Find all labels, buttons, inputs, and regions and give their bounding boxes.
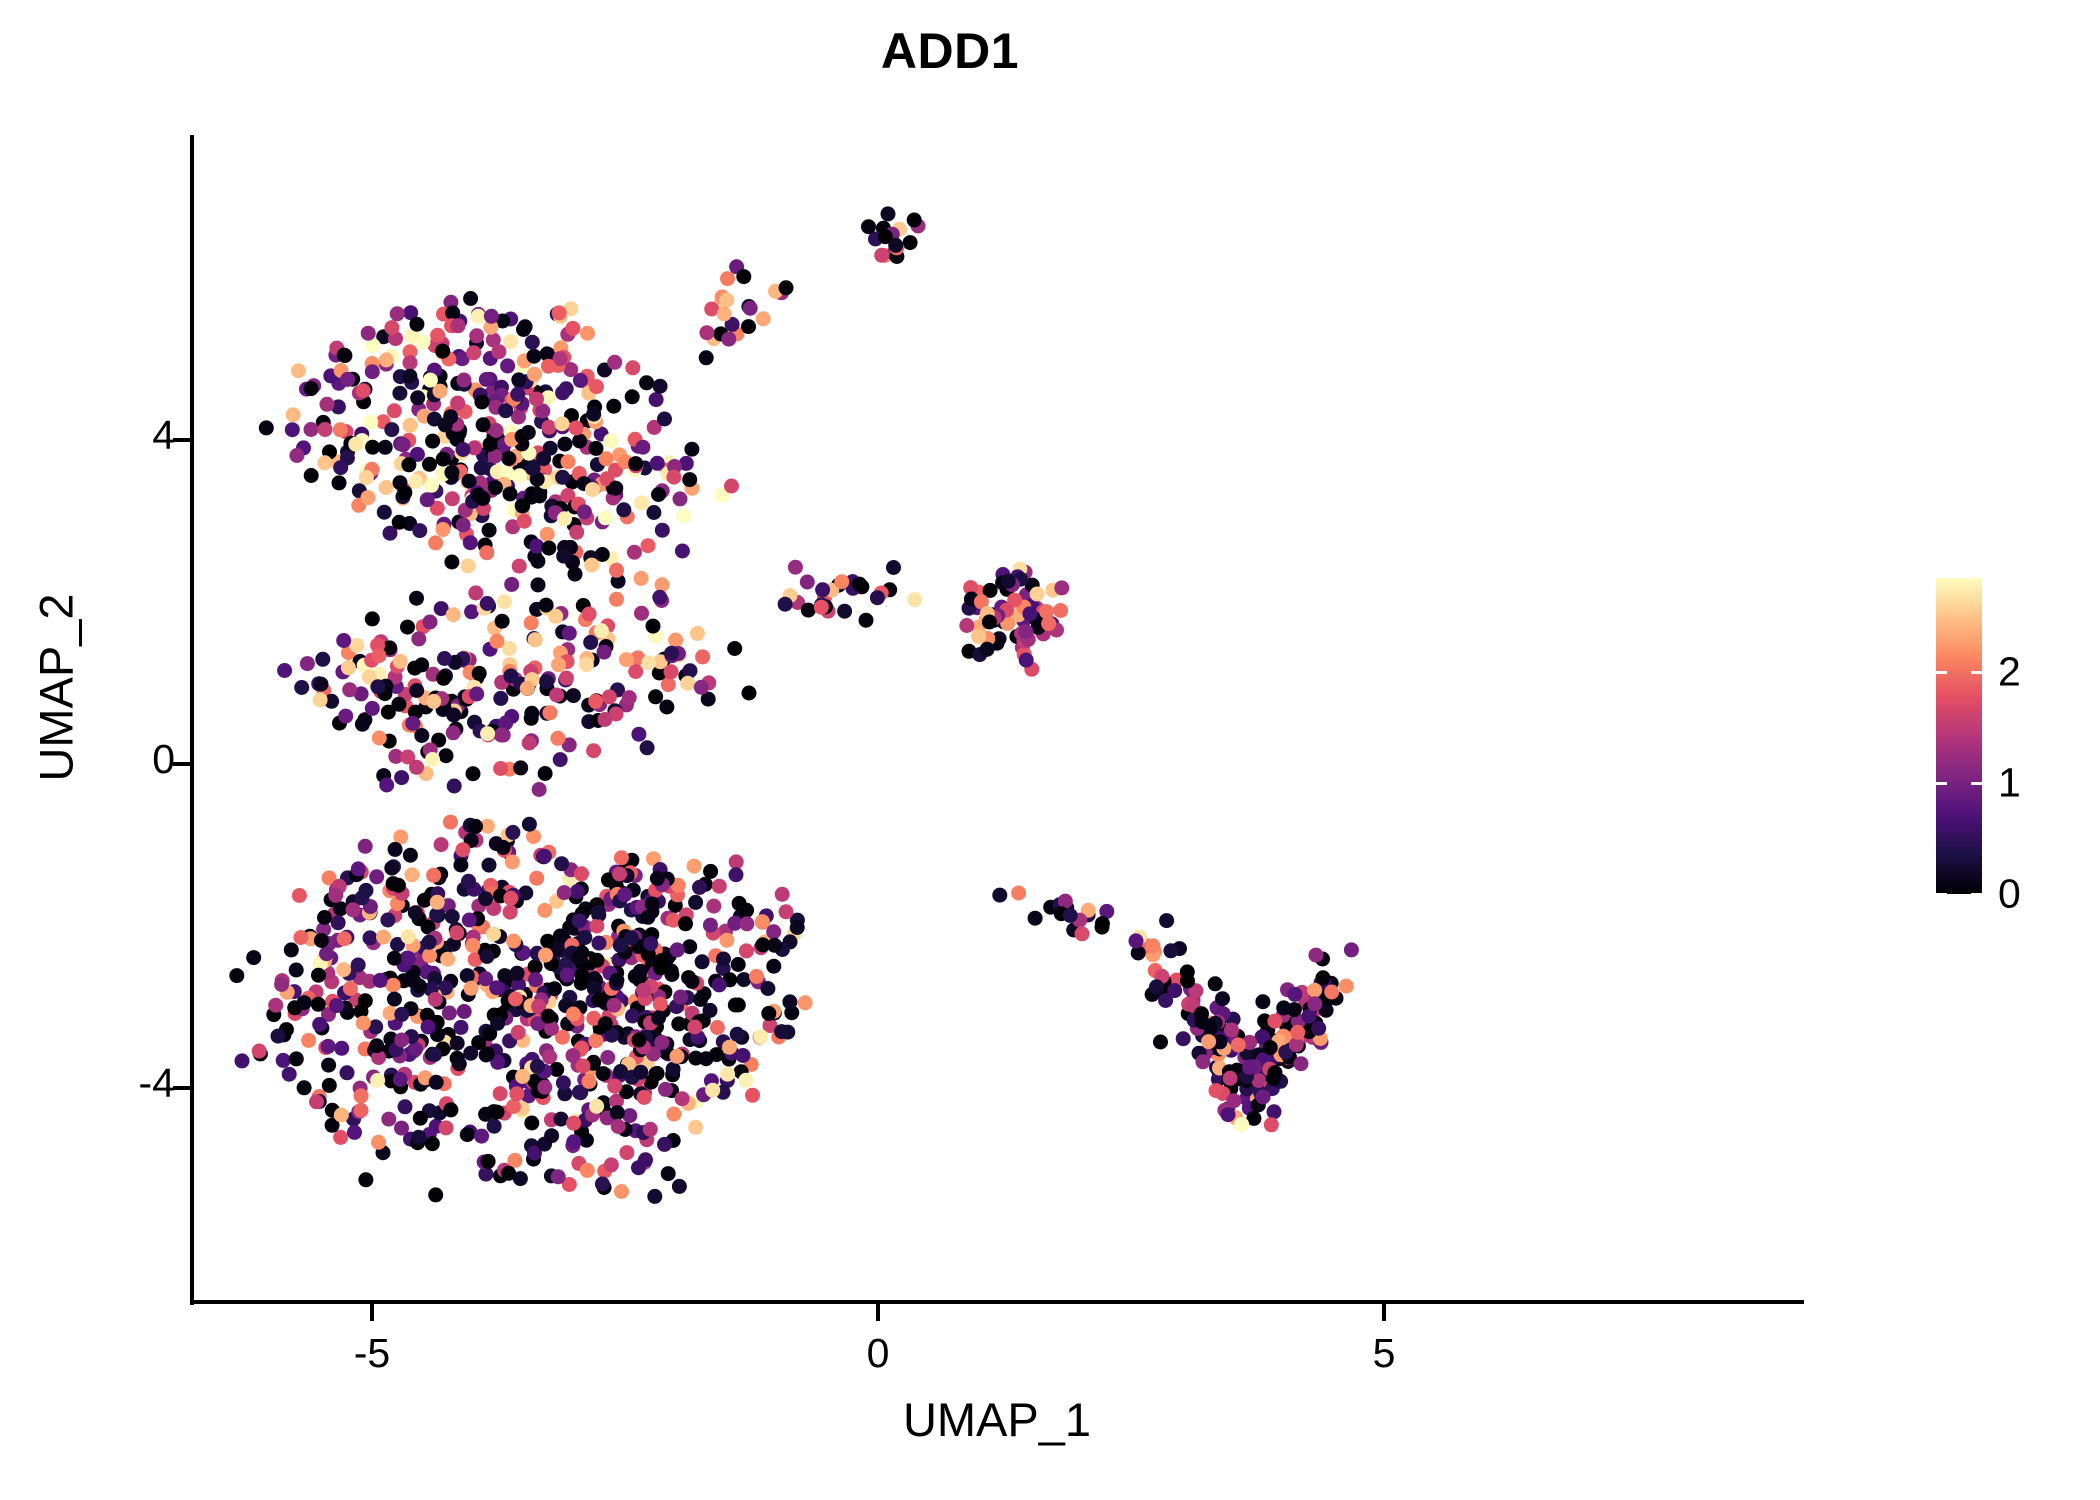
scatter-point <box>606 399 621 414</box>
scatter-point <box>317 910 332 925</box>
scatter-point <box>480 1046 495 1061</box>
scatter-point <box>607 1079 622 1094</box>
scatter-point <box>1307 983 1322 998</box>
scatter-point <box>635 440 650 455</box>
colorbar-legend: 012 <box>1936 578 1982 894</box>
y-tick-label-4: 4 <box>152 412 175 459</box>
scatter-point <box>361 326 376 341</box>
scatter-point <box>1231 1037 1246 1052</box>
scatter-point <box>640 910 655 925</box>
scatter-point <box>229 968 244 983</box>
scatter-point <box>650 1066 665 1081</box>
scatter-point <box>380 913 395 928</box>
scatter-point <box>720 1067 735 1082</box>
scatter-point <box>657 412 672 427</box>
scatter-point <box>510 966 525 981</box>
scatter-point <box>617 887 632 902</box>
scatter-point <box>461 559 476 574</box>
scatter-point <box>439 1120 454 1135</box>
scatter-point <box>582 1074 597 1089</box>
scatter-point <box>651 1010 666 1025</box>
scatter-point <box>309 1094 324 1109</box>
scatter-point <box>354 1103 369 1118</box>
x-tick-label-neg5: -5 <box>312 1330 432 1377</box>
scatter-point <box>489 423 504 438</box>
scatter-point <box>408 474 423 489</box>
scatter-point <box>646 619 661 634</box>
scatter-point <box>246 950 261 965</box>
scatter-point <box>548 609 563 624</box>
scatter-point <box>633 1065 648 1080</box>
scatter-point <box>365 440 380 455</box>
colorbar-tick-2 <box>1971 671 1982 674</box>
scatter-point <box>719 933 734 948</box>
scatter-point <box>409 683 424 698</box>
colorbar-label-0: 0 <box>1998 871 2021 918</box>
scatter-point <box>509 1086 524 1101</box>
scatter-point <box>591 905 606 920</box>
scatter-point <box>522 736 537 751</box>
scatter-point <box>320 397 335 412</box>
scatter-point <box>736 972 751 987</box>
scatter-point <box>1294 1056 1309 1071</box>
scatter-point <box>444 465 459 480</box>
scatter-point <box>980 642 995 657</box>
scatter-point <box>423 373 438 388</box>
scatter-point <box>631 727 646 742</box>
scatter-point <box>815 582 830 597</box>
scatter-point <box>373 973 388 988</box>
scatter-point <box>361 490 376 505</box>
scatter-point <box>401 951 416 966</box>
scatter-point <box>540 527 555 542</box>
scatter-point <box>652 590 667 605</box>
scatter-point <box>653 997 668 1012</box>
scatter-point <box>682 472 697 487</box>
scatter-point <box>688 1051 703 1066</box>
scatter-point <box>631 1160 646 1175</box>
scatter-point <box>235 1053 250 1068</box>
scatter-point <box>636 983 651 998</box>
scatter-point <box>627 545 642 560</box>
scatter-point <box>565 321 580 336</box>
scatter-point <box>571 950 586 965</box>
scatter-point <box>682 939 697 954</box>
scatter-point <box>550 731 565 746</box>
scatter-point <box>334 1041 349 1056</box>
scatter-point <box>1287 987 1302 1002</box>
scatter-point <box>343 981 358 996</box>
scatter-point <box>622 690 637 705</box>
scatter-point <box>695 649 710 664</box>
scatter-point <box>356 1016 371 1031</box>
scatter-point <box>396 437 411 452</box>
scatter-point <box>321 1058 336 1073</box>
scatter-point <box>1095 916 1110 931</box>
scatter-point <box>513 760 528 775</box>
scatter-point <box>647 1189 662 1204</box>
scatter-point <box>675 544 690 559</box>
scatter-point <box>436 452 451 467</box>
scatter-point <box>903 235 918 250</box>
scatter-point <box>460 1127 475 1142</box>
scatter-point <box>464 981 479 996</box>
scatter-point <box>412 979 427 994</box>
scatter-point <box>551 657 566 672</box>
scatter-point <box>472 666 487 681</box>
scatter-point <box>1163 943 1178 958</box>
scatter-point <box>600 1050 615 1065</box>
scatter-point <box>410 390 425 405</box>
scatter-point <box>369 869 384 884</box>
scatter-point <box>528 632 543 647</box>
scatter-point <box>537 849 552 864</box>
scatter-point <box>554 416 569 431</box>
scatter-point <box>454 1020 469 1035</box>
scatter-point <box>422 935 437 950</box>
scatter-point <box>731 998 746 1013</box>
scatter-point <box>289 448 304 463</box>
scatter-point <box>452 1056 467 1071</box>
scatter-point <box>604 1157 619 1172</box>
scatter-point <box>517 514 532 529</box>
scatter-point <box>666 1107 681 1122</box>
scatter-point <box>252 1044 267 1059</box>
scatter-point <box>445 491 460 506</box>
scatter-point <box>480 949 495 964</box>
scatter-point <box>443 815 458 830</box>
x-tick-mark-0 <box>876 1304 880 1321</box>
scatter-point <box>709 1047 724 1062</box>
figure-root: ADD1 4 0 -4 -5 0 5 UMAP_2 UMAP_1 012 <box>0 0 2100 1500</box>
x-tick-label-5: 5 <box>1324 1330 1444 1377</box>
scatter-point <box>436 522 451 537</box>
scatter-point <box>277 663 292 678</box>
scatter-point <box>466 345 481 360</box>
scatter-point <box>369 1038 384 1053</box>
scatter-point <box>666 1062 681 1077</box>
scatter-point <box>527 349 542 364</box>
scatter-point <box>1063 908 1078 923</box>
scatter-point <box>490 634 505 649</box>
scatter-point <box>463 1046 478 1061</box>
scatter-point <box>318 422 333 437</box>
y-tick-label-neg4: -4 <box>139 1060 175 1107</box>
scatter-point <box>666 470 681 485</box>
scatter-point <box>512 559 527 574</box>
scatter-point <box>384 320 399 335</box>
scatter-point <box>511 409 526 424</box>
scatter-point <box>404 867 419 882</box>
scatter-point <box>479 545 494 560</box>
scatter-point <box>349 638 364 653</box>
scatter-point <box>530 1059 545 1074</box>
scatter-point <box>586 743 601 758</box>
scatter-point <box>542 1049 557 1064</box>
scatter-point <box>456 373 471 388</box>
scatter-point <box>1267 1014 1282 1029</box>
scatter-point <box>1307 996 1322 1011</box>
scatter-point <box>475 491 490 506</box>
scatter-point <box>992 888 1007 903</box>
scatter-point <box>729 854 744 869</box>
scatter-point <box>340 372 355 387</box>
scatter-point <box>633 964 648 979</box>
scatter-point <box>445 909 460 924</box>
scatter-point <box>569 525 584 540</box>
scatter-point <box>703 918 718 933</box>
scatter-point <box>572 913 587 928</box>
scatter-point <box>512 468 527 483</box>
scatter-point <box>1221 1107 1236 1122</box>
scatter-point <box>384 861 399 876</box>
scatter-point <box>297 1080 312 1095</box>
scatter-point <box>643 936 658 951</box>
scatter-point <box>680 676 695 691</box>
scatter-point <box>491 344 506 359</box>
scatter-point <box>549 688 564 703</box>
scatter-point <box>597 712 612 727</box>
scatter-point <box>482 523 497 538</box>
scatter-point <box>319 946 334 961</box>
scatter-point <box>1215 991 1230 1006</box>
scatter-point <box>583 635 598 650</box>
scatter-point <box>703 1003 718 1018</box>
scatter-point <box>428 1187 443 1202</box>
scatter-point <box>531 577 546 592</box>
scatter-point <box>412 523 427 538</box>
scatter-point <box>438 417 453 432</box>
scatter-point <box>292 888 307 903</box>
scatter-point <box>1255 994 1270 1009</box>
scatter-point <box>634 571 649 586</box>
scatter-point <box>570 884 585 899</box>
scatter-point <box>474 1129 489 1144</box>
scatter-point <box>685 974 700 989</box>
scatter-point <box>676 509 691 524</box>
plot-panel <box>193 137 1400 1302</box>
scatter-point <box>450 1036 465 1051</box>
scatter-point <box>500 358 515 373</box>
scatter-point <box>437 651 452 666</box>
scatter-point <box>337 931 352 946</box>
x-tick-mark-5 <box>1382 1304 1386 1321</box>
scatter-point <box>778 597 793 612</box>
scatter-point <box>755 937 770 952</box>
scatter-point <box>392 386 407 401</box>
scatter-point <box>1209 1083 1224 1098</box>
scatter-point <box>469 687 484 702</box>
scatter-point <box>526 461 541 476</box>
scatter-point <box>489 980 504 995</box>
scatter-point <box>672 1179 687 1194</box>
scatter-point <box>354 1088 369 1103</box>
scatter-point <box>387 992 402 1007</box>
scatter-point <box>610 1105 625 1120</box>
scatter-point <box>455 842 470 857</box>
scatter-point <box>285 422 300 437</box>
scatter-point <box>537 903 552 918</box>
scatter-point <box>510 387 525 402</box>
scatter-point <box>407 661 422 676</box>
scatter-point <box>609 563 624 578</box>
scatter-point <box>480 596 495 611</box>
scatter-point <box>761 1006 776 1021</box>
scatter-point <box>653 379 668 394</box>
scatter-point <box>422 457 437 472</box>
scatter-point <box>699 325 714 340</box>
scatter-point <box>688 895 703 910</box>
scatter-point <box>486 926 501 941</box>
scatter-point <box>971 629 986 644</box>
scatter-point <box>874 248 889 263</box>
scatter-point <box>428 535 443 550</box>
scatter-point <box>363 930 378 945</box>
scatter-point <box>446 708 461 723</box>
scatter-point <box>722 1040 737 1055</box>
scatter-point <box>1028 911 1043 926</box>
scatter-point <box>518 886 533 901</box>
scatter-point <box>390 306 405 321</box>
scatter-point <box>503 486 518 501</box>
scatter-point <box>602 689 617 704</box>
scatter-point <box>365 364 380 379</box>
scatter-point <box>598 510 613 525</box>
scatter-point <box>430 895 445 910</box>
scatter-point <box>520 681 535 696</box>
scatter-point <box>1324 985 1339 1000</box>
scatter-point <box>313 692 328 707</box>
scatter-point <box>888 238 903 253</box>
scatter-point <box>1153 1035 1168 1050</box>
scatter-point <box>1054 580 1069 595</box>
scatter-point <box>376 930 391 945</box>
scatter-point <box>982 615 997 630</box>
scatter-point <box>592 936 607 951</box>
scatter-point <box>675 1091 690 1106</box>
scatter-point <box>1145 938 1160 953</box>
scatter-point <box>588 694 603 709</box>
scatter-point <box>388 842 403 857</box>
scatter-point <box>505 855 520 870</box>
scatter-point <box>524 1116 539 1131</box>
scatter-point <box>687 1020 702 1035</box>
scatter-point <box>487 1119 502 1134</box>
scatter-point <box>622 1108 637 1123</box>
scatter-point <box>673 990 688 1005</box>
scatter-point <box>522 817 537 832</box>
scatter-point <box>413 1111 428 1126</box>
scatter-point <box>1311 1021 1326 1036</box>
scatter-point <box>1053 603 1068 618</box>
scatter-point <box>387 951 402 966</box>
scatter-point <box>528 972 543 987</box>
y-tick-mark-neg4 <box>173 1086 190 1090</box>
scatter-point <box>541 1009 556 1024</box>
scatter-point <box>365 701 380 716</box>
scatter-point <box>561 454 576 469</box>
scatter-point <box>1208 976 1223 991</box>
scatter-point <box>641 538 656 553</box>
scatter-point <box>322 1078 337 1093</box>
scatter-point <box>1263 1040 1278 1055</box>
y-tick-mark-0 <box>173 762 190 766</box>
scatter-point <box>293 930 308 945</box>
scatter-point <box>521 425 536 440</box>
scatter-point <box>506 1099 521 1114</box>
scatter-point <box>739 916 754 931</box>
scatter-point <box>379 778 394 793</box>
scatter-point <box>365 611 380 626</box>
scatter-point <box>670 1049 685 1064</box>
scatter-point <box>959 618 974 633</box>
scatter-point <box>504 577 519 592</box>
scatter-point <box>336 633 351 648</box>
scatter-point <box>474 460 489 475</box>
scatter-point <box>766 959 781 974</box>
scatter-point <box>282 1067 297 1082</box>
scatter-point <box>766 924 781 939</box>
scatter-point <box>628 664 643 679</box>
scatter-point <box>712 977 727 992</box>
scatter-point <box>575 968 590 983</box>
scatter-point <box>425 434 440 449</box>
scatter-point <box>436 671 451 686</box>
scatter-point <box>664 664 679 679</box>
scatter-point <box>422 948 437 963</box>
scatter-point <box>372 731 387 746</box>
scatter-point <box>611 1119 626 1134</box>
scatter-point <box>1203 1019 1218 1034</box>
scatter-point <box>658 1082 673 1097</box>
scatter-point <box>607 355 622 370</box>
scatter-point <box>779 904 794 919</box>
y-tick-label-0: 0 <box>152 736 175 783</box>
scatter-point <box>649 392 664 407</box>
scatter-point <box>657 1137 672 1152</box>
scatter-point <box>742 686 757 701</box>
scatter-point <box>1159 913 1174 928</box>
scatter-point <box>398 1099 413 1114</box>
scatter-point <box>582 607 597 622</box>
scatter-point <box>596 1066 611 1081</box>
scatter-point <box>384 422 399 437</box>
scatter-point <box>544 1128 559 1143</box>
scatter-point <box>340 1065 355 1080</box>
scatter-point <box>484 309 499 324</box>
scatter-point <box>528 959 543 974</box>
scatter-point <box>738 1073 753 1088</box>
scatter-point <box>493 1086 508 1101</box>
scatter-point <box>566 1116 581 1131</box>
scatter-point <box>476 417 491 432</box>
scatter-point <box>347 1125 362 1140</box>
scatter-point <box>401 457 416 472</box>
scatter-point <box>414 728 429 743</box>
scatter-point <box>1344 942 1359 957</box>
scatter-point <box>541 541 556 556</box>
scatter-point <box>716 952 731 967</box>
scatter-point <box>337 348 352 363</box>
scatter-point <box>543 705 558 720</box>
scatter-point <box>515 498 530 513</box>
scatter-point <box>379 480 394 495</box>
scatter-point <box>1226 1093 1241 1108</box>
scatter-point <box>358 1172 373 1187</box>
scatter-point <box>403 848 418 863</box>
scatter-point <box>311 997 326 1012</box>
scatter-point <box>569 421 584 436</box>
